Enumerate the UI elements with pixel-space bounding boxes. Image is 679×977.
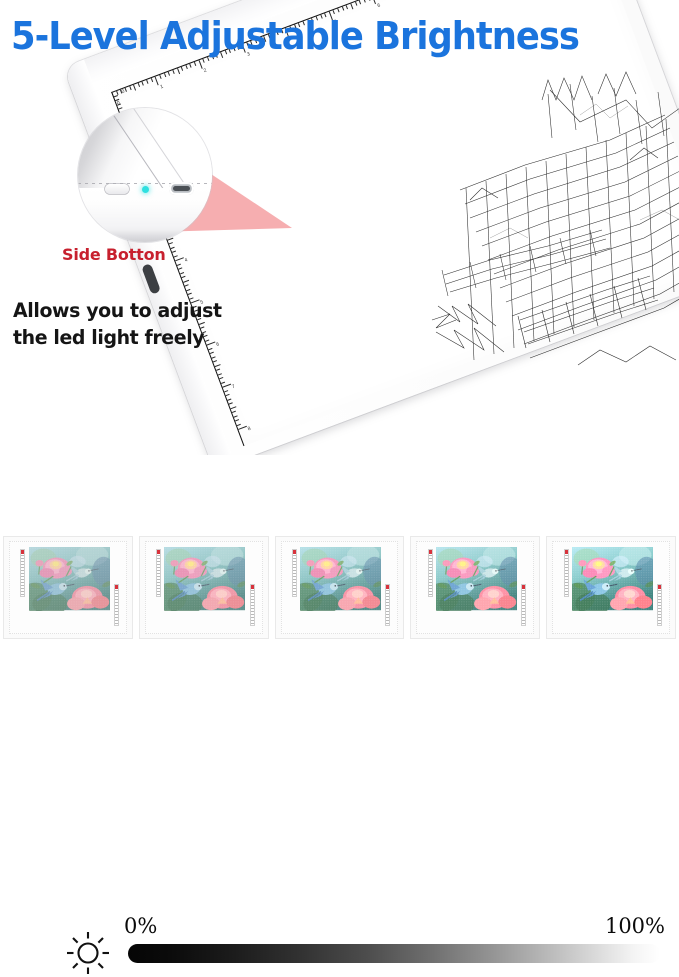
brightness-min-label: 0%	[124, 914, 157, 938]
usb-c-port-zoomed	[169, 182, 194, 195]
brightness-scale: 0% 100%	[0, 455, 679, 530]
ruler-cap	[115, 585, 118, 589]
ruler-cap	[293, 550, 296, 554]
ruler-strip-left	[156, 549, 161, 596]
ruler-cap	[157, 550, 160, 554]
ruler-cap	[522, 585, 525, 589]
ruler-strip-right	[657, 584, 662, 626]
thumbnail-frame	[552, 541, 670, 634]
brightness-thumbnail[interactable]	[410, 536, 540, 639]
ruler-cap	[565, 550, 568, 554]
brightness-thumbnail[interactable]	[546, 536, 676, 639]
brightness-level-thumbnails	[0, 536, 679, 639]
thumbnail-frame	[145, 541, 263, 634]
side-button-zoomed[interactable]	[105, 184, 129, 194]
thumbnail-frame	[281, 541, 399, 634]
thumbnail-frame	[9, 541, 127, 634]
ruler-strip-right	[250, 584, 255, 626]
brightness-max-label: 100%	[605, 914, 665, 938]
thumbnail-artwork	[29, 547, 110, 627]
sun-icon	[64, 929, 112, 977]
thumbnail-artwork	[436, 547, 517, 627]
brightness-gradient-bar[interactable]	[128, 944, 660, 963]
ruler-strip-left	[564, 549, 569, 596]
thumbnail-artwork	[572, 547, 653, 627]
ruler-strip-right	[385, 584, 390, 626]
magnifier-circle	[78, 108, 212, 242]
description-line-2: the led light freely	[13, 324, 222, 351]
ruler-strip-left	[428, 549, 433, 596]
hero-product-photo: 012345678910 012345678	[0, 0, 679, 455]
usb-c-port-inner	[173, 186, 190, 191]
edge-shadow	[78, 230, 212, 242]
ruler-strip-right	[521, 584, 526, 626]
ruler-strip-right	[114, 584, 119, 626]
description-line-1: Allows you to adjust	[13, 297, 222, 324]
brightness-thumbnail[interactable]	[139, 536, 269, 639]
ruler-strip-left	[20, 549, 25, 596]
ruler-cap	[658, 585, 661, 589]
led-indicator-zoomed	[142, 186, 149, 193]
page-title: 5-Level Adjustable Brightness	[11, 14, 579, 58]
side-button-label: Side Botton	[62, 245, 166, 264]
magnifier-surface	[78, 108, 212, 191]
thumbnail-frame	[416, 541, 534, 634]
thumbnail-artwork	[300, 547, 381, 627]
ruler-cap	[21, 550, 24, 554]
ruler-cap	[386, 585, 389, 589]
description-text: Allows you to adjust the led light freel…	[13, 297, 222, 351]
brightness-thumbnail[interactable]	[275, 536, 405, 639]
brightness-thumbnail[interactable]	[3, 536, 133, 639]
thumbnail-artwork	[164, 547, 245, 627]
magnifier-side-edge	[78, 188, 212, 242]
ruler-cap	[429, 550, 432, 554]
ruler-cap	[251, 585, 254, 589]
ruler-strip-left	[292, 549, 297, 596]
